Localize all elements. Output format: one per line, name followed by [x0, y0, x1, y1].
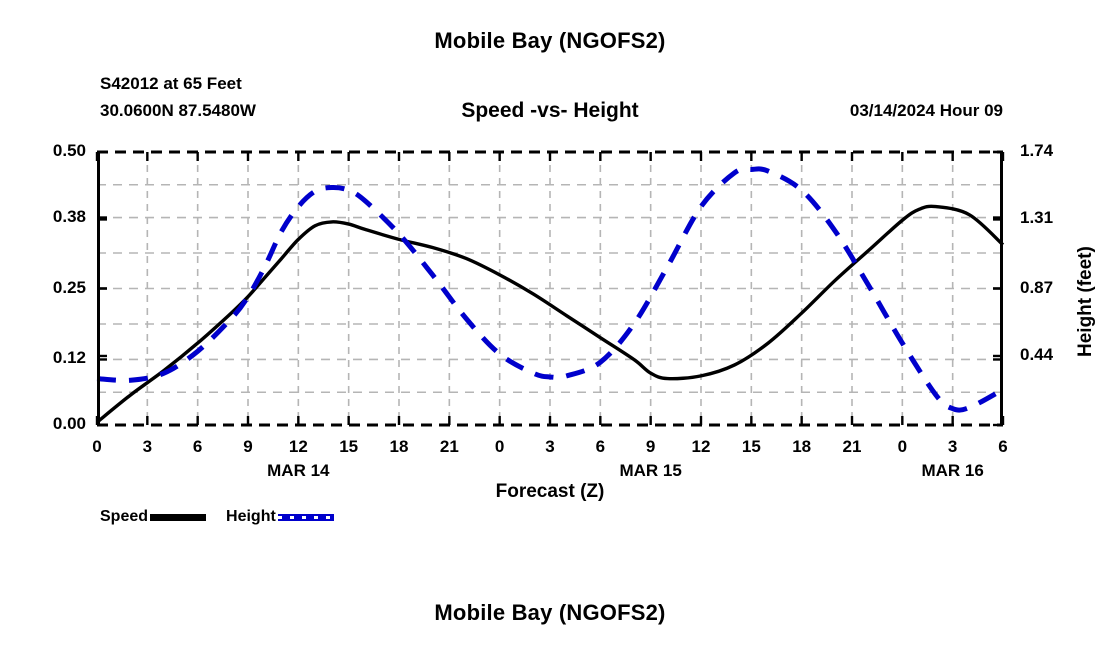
- x-tick: 21: [843, 437, 862, 457]
- legend-item-speed[interactable]: Speed: [100, 508, 226, 526]
- chart-page: Mobile Bay (NGOFS2) S42012 at 65 Feet 30…: [0, 0, 1100, 650]
- x-tick: 0: [92, 437, 101, 457]
- y-tick-left: 0.12: [53, 348, 86, 368]
- x-tick: 6: [998, 437, 1007, 457]
- x-tick: 12: [692, 437, 711, 457]
- x-tick: 21: [440, 437, 459, 457]
- y-tick-right: 1.74: [1020, 141, 1053, 161]
- x-tick: 15: [742, 437, 761, 457]
- y-tick-right: 1.31: [1020, 208, 1053, 228]
- x-tick: 18: [390, 437, 409, 457]
- x-tick: 6: [193, 437, 202, 457]
- y-tick-right: 0.44: [1020, 345, 1053, 365]
- bottom-title: Mobile Bay (NGOFS2): [0, 600, 1100, 626]
- x-tick: 15: [339, 437, 358, 457]
- x-tick: 3: [545, 437, 554, 457]
- x-tick: 18: [792, 437, 811, 457]
- forecast-run-time: 03/14/2024 Hour 09: [850, 101, 1003, 121]
- legend: SpeedHeight: [100, 508, 354, 526]
- x-axis-label: Forecast (Z): [0, 481, 1100, 503]
- x-tick: 6: [596, 437, 605, 457]
- x-tick: 12: [289, 437, 308, 457]
- x-axis-day-label: MAR 16: [921, 461, 983, 481]
- plot-border: [97, 152, 1003, 425]
- y-tick-left: 0.50: [53, 141, 86, 161]
- legend-label: Height: [226, 508, 276, 526]
- legend-label: Speed: [100, 508, 148, 526]
- plot-area: [97, 152, 1003, 425]
- x-tick: 9: [243, 437, 252, 457]
- legend-swatch-speed: [150, 514, 206, 521]
- x-tick: 3: [948, 437, 957, 457]
- x-tick: 9: [646, 437, 655, 457]
- y-tick-left: 0.00: [53, 414, 86, 434]
- page-title: Mobile Bay (NGOFS2): [0, 28, 1100, 54]
- y-tick-right: 0.87: [1020, 278, 1053, 298]
- x-axis-day-label: MAR 14: [267, 461, 329, 481]
- y-axis-right-label: Height (feet): [1075, 246, 1097, 357]
- x-tick: 3: [143, 437, 152, 457]
- station-info: S42012 at 65 Feet: [100, 74, 242, 94]
- legend-item-height[interactable]: Height: [226, 508, 354, 526]
- y-tick-left: 0.25: [53, 278, 86, 298]
- legend-swatch-height: [278, 514, 334, 521]
- y-tick-left: 0.38: [53, 207, 86, 227]
- x-axis-day-label: MAR 15: [619, 461, 681, 481]
- x-tick: 0: [898, 437, 907, 457]
- x-tick: 0: [495, 437, 504, 457]
